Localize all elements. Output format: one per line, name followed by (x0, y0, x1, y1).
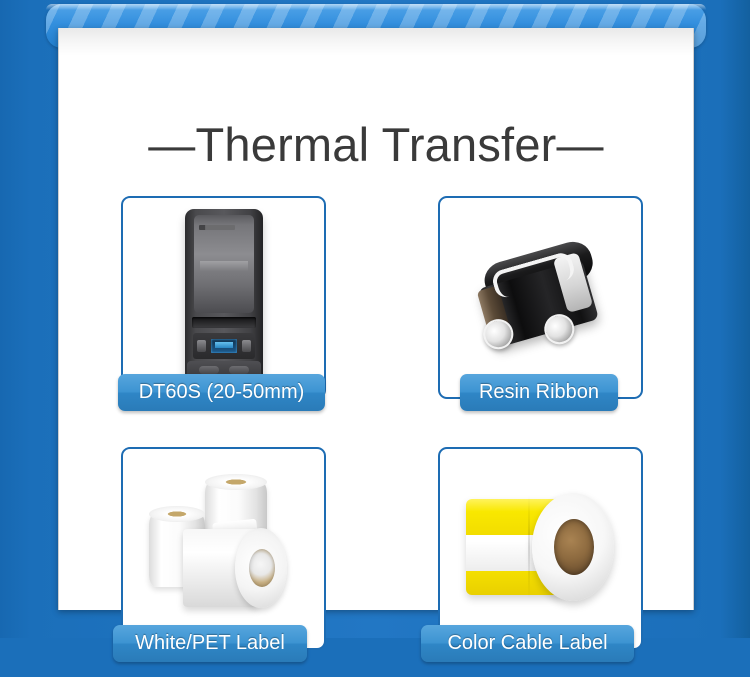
product-caption-text: Resin Ribbon (479, 381, 599, 404)
resin-ribbon-cartridge-photo (440, 198, 641, 397)
product-card[interactable] (438, 447, 643, 650)
product-caption-chip[interactable]: Color Cable Label (421, 625, 634, 662)
thermal-label-printer-photo: ⏻▤ ↻✓ (123, 198, 324, 397)
product-card[interactable]: ⏻▤ ↻✓ (121, 196, 326, 399)
product-caption-text: DT60S (20-50mm) (139, 381, 305, 404)
product-cell-color-cable-label[interactable]: Color Cable Label (376, 447, 693, 677)
product-card[interactable] (121, 447, 326, 650)
product-card[interactable] (438, 196, 643, 399)
product-row-1: ⏻▤ ↻✓ DT60S (20-50mm) (59, 196, 693, 426)
page-title: —Thermal Transfer— (59, 116, 693, 172)
product-grid: ⏻▤ ↻✓ DT60S (20-50mm) (59, 196, 693, 677)
yellow-color-cable-label-roll-photo (440, 449, 641, 648)
panel-top-shading (59, 28, 693, 56)
product-caption-chip[interactable]: Resin Ribbon (460, 374, 618, 411)
content-panel: —Thermal Transfer— (58, 28, 694, 610)
product-caption-text: White/PET Label (135, 632, 285, 655)
product-cell-ribbon[interactable]: Resin Ribbon (376, 196, 693, 426)
outer-blue-frame: —Thermal Transfer— (0, 0, 750, 638)
product-caption-chip[interactable]: White/PET Label (113, 625, 307, 662)
page-title-text: —Thermal Transfer— (148, 121, 603, 168)
product-caption-chip[interactable]: DT60S (20-50mm) (118, 374, 325, 411)
product-caption-text: Color Cable Label (447, 632, 607, 655)
printer-brand-logo (199, 225, 235, 230)
product-row-2: White/PET Label (59, 447, 693, 677)
white-pet-label-rolls-photo (123, 449, 324, 648)
product-cell-white-label[interactable]: White/PET Label (59, 447, 376, 677)
product-cell-printer[interactable]: ⏻▤ ↻✓ DT60S (20-50mm) (59, 196, 376, 426)
